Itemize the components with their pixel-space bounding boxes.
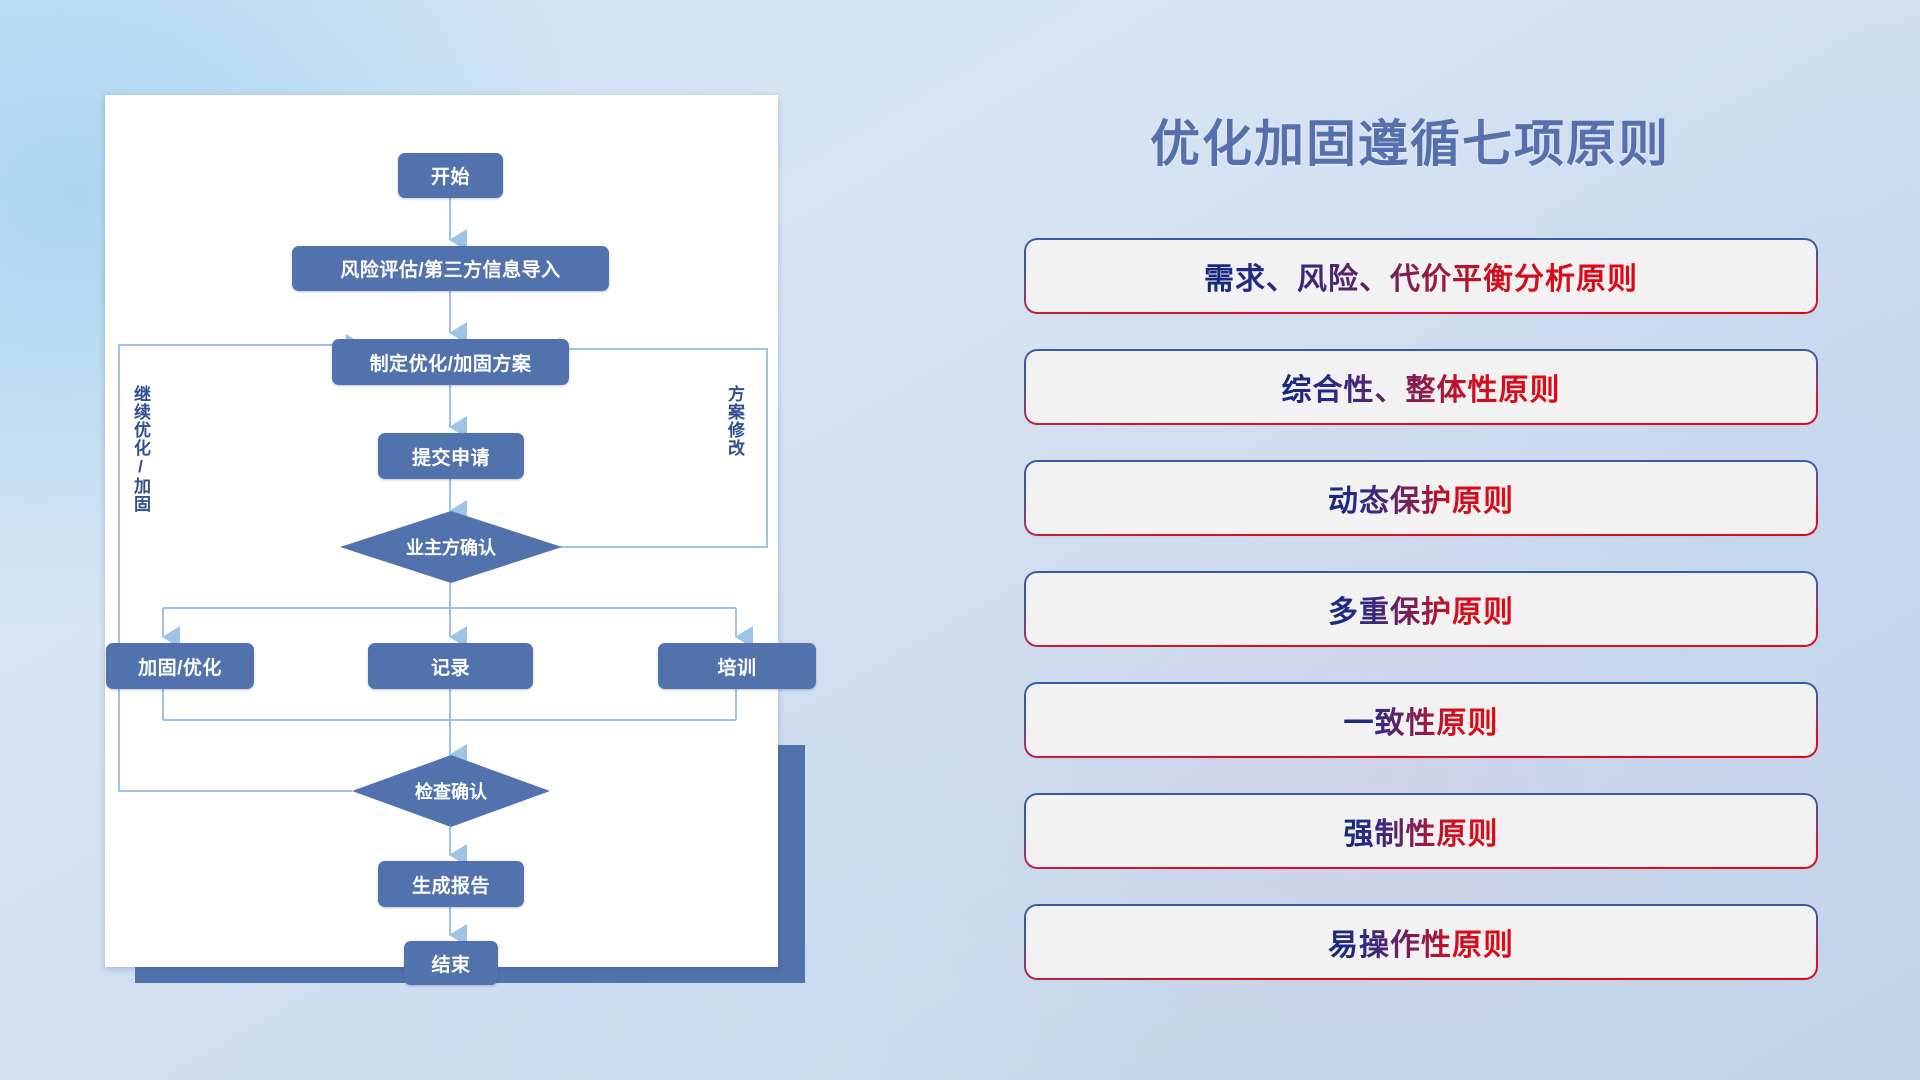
principle-label: 易操作性原则	[1328, 920, 1514, 964]
flow-node-label: 开始	[431, 162, 470, 189]
flowchart-panel: 开始 风险评估/第三方信息导入 制定优化/加固方案 提交申请 业主方确认 加固/…	[105, 95, 778, 967]
flow-decision-owner-confirm[interactable]: 业主方确认	[340, 511, 562, 583]
flow-node-label: 提交申请	[412, 443, 490, 470]
principle-label: 动态保护原则	[1328, 476, 1514, 520]
flow-node-label: 生成报告	[412, 871, 490, 898]
flow-node-label: 记录	[431, 653, 470, 680]
principle-label: 多重保护原则	[1328, 587, 1514, 631]
flow-edge-label-plan-revision: 方案修改	[725, 385, 744, 457]
principle-card[interactable]: 多重保护原则	[1026, 573, 1816, 645]
principle-label: 一致性原则	[1344, 698, 1499, 742]
principle-card[interactable]: 动态保护原则	[1026, 462, 1816, 534]
flow-node-training[interactable]: 培训	[658, 643, 816, 689]
flow-node-submit-application[interactable]: 提交申请	[378, 433, 524, 479]
principle-card[interactable]: 综合性、整体性原则	[1026, 351, 1816, 423]
flow-node-label: 检查确认	[415, 778, 487, 804]
flow-node-record[interactable]: 记录	[368, 643, 533, 689]
principles-list: 需求、风险、代价平衡分析原则 综合性、整体性原则 动态保护原则 多重保护原则 一…	[1026, 240, 1816, 1017]
flow-node-label: 业主方确认	[406, 534, 496, 560]
principle-card[interactable]: 易操作性原则	[1026, 906, 1816, 978]
flow-node-label: 制定优化/加固方案	[370, 349, 532, 376]
flow-node-label: 结束	[431, 950, 470, 977]
principle-label: 需求、风险、代价平衡分析原则	[1204, 254, 1638, 298]
flow-node-plan[interactable]: 制定优化/加固方案	[332, 339, 569, 385]
principle-label: 强制性原则	[1344, 809, 1499, 853]
flow-node-label: 风险评估/第三方信息导入	[340, 255, 560, 282]
flow-node-label: 培训	[717, 653, 756, 680]
slide-canvas: 开始 风险评估/第三方信息导入 制定优化/加固方案 提交申请 业主方确认 加固/…	[0, 0, 1920, 1080]
flow-node-label: 加固/优化	[138, 653, 222, 680]
flow-node-generate-report[interactable]: 生成报告	[378, 861, 524, 907]
principle-card[interactable]: 一致性原则	[1026, 684, 1816, 756]
principle-card[interactable]: 强制性原则	[1026, 795, 1816, 867]
flow-node-reinforce-optimize[interactable]: 加固/优化	[106, 643, 254, 689]
page-title: 优化加固遵循七项原则	[1150, 104, 1670, 176]
flow-node-end[interactable]: 结束	[404, 941, 498, 985]
flow-node-start[interactable]: 开始	[398, 153, 503, 198]
principle-label: 综合性、整体性原则	[1282, 365, 1561, 409]
flow-node-risk-assessment[interactable]: 风险评估/第三方信息导入	[292, 246, 609, 291]
flow-decision-check-confirm[interactable]: 检查确认	[352, 755, 550, 827]
principle-card[interactable]: 需求、风险、代价平衡分析原则	[1026, 240, 1816, 312]
flow-edge-label-continue-optimize: 继续优化/加固	[131, 385, 150, 513]
